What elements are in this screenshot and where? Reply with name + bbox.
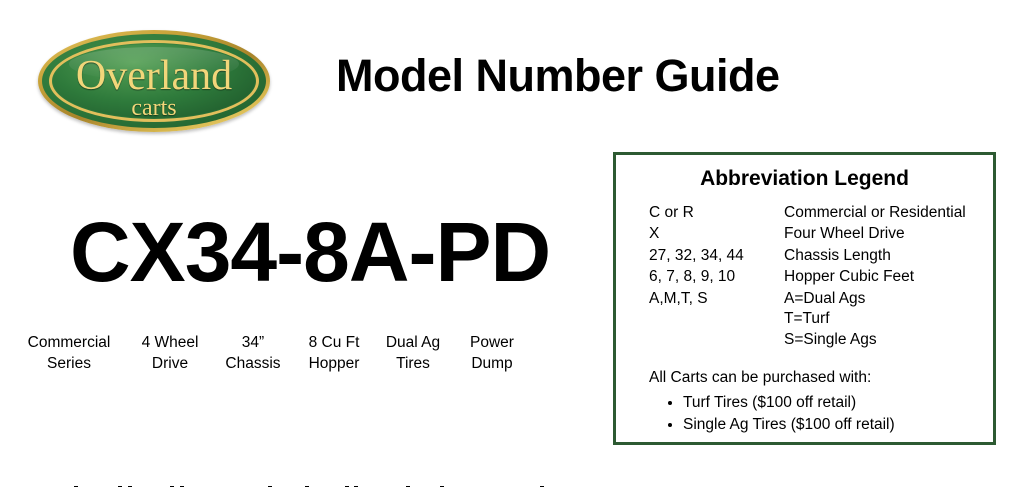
caption-power-dump: Power Dump — [452, 332, 532, 375]
legend-row: A,M,T, S A=Dual Ags T=Turf S=Single Ags — [649, 289, 994, 350]
legend-code: X — [649, 224, 784, 244]
logo-submark: carts — [38, 96, 270, 120]
logo-wordmark: Overland — [38, 55, 270, 97]
legend-description: A=Dual Ags T=Turf S=Single Ags — [784, 289, 877, 350]
legend-table: C or R Commercial or Residential X Four … — [649, 203, 994, 351]
caption-34-chassis: 34” Chassis — [209, 332, 297, 375]
caption-commercial-series: Commercial Series — [8, 332, 130, 375]
list-item: Turf Tires ($100 off retail) — [683, 392, 989, 414]
legend-row: X Four Wheel Drive — [649, 224, 994, 244]
legend-code: A,M,T, S — [649, 289, 784, 309]
legend-code: 27, 32, 34, 44 — [649, 246, 784, 266]
legend-title: Abbreviation Legend — [616, 167, 993, 191]
legend-description: Commercial or Residential — [784, 203, 966, 223]
abbreviation-legend-box: Abbreviation Legend C or R Commercial or… — [613, 152, 996, 445]
model-number-breakdown: CX34-8A-PD — [0, 200, 600, 400]
list-item: Single Ag Tires ($100 off retail) — [683, 414, 989, 436]
legend-description: Four Wheel Drive — [784, 224, 905, 244]
legend-row: 6, 7, 8, 9, 10 Hopper Cubic Feet — [649, 267, 994, 287]
caption-dual-ag-tires: Dual Ag Tires — [370, 332, 456, 375]
legend-purchase-note: All Carts can be purchased with: Turf Ti… — [649, 368, 989, 437]
overland-carts-logo: Overland carts — [38, 30, 270, 132]
note-list: Turf Tires ($100 off retail) Single Ag T… — [649, 392, 989, 437]
legend-row: C or R Commercial or Residential — [649, 203, 994, 223]
page-title: Model Number Guide — [336, 50, 780, 102]
legend-description: Hopper Cubic Feet — [784, 267, 914, 287]
legend-code: C or R — [649, 203, 784, 223]
caption-8-cu-ft-hopper: 8 Cu Ft Hopper — [291, 332, 377, 375]
caption-4-wheel-drive: 4 Wheel Drive — [118, 332, 222, 375]
legend-description: Chassis Length — [784, 246, 891, 266]
legend-code: 6, 7, 8, 9, 10 — [649, 267, 784, 287]
legend-row: 27, 32, 34, 44 Chassis Length — [649, 246, 994, 266]
note-heading: All Carts can be purchased with: — [649, 368, 989, 389]
